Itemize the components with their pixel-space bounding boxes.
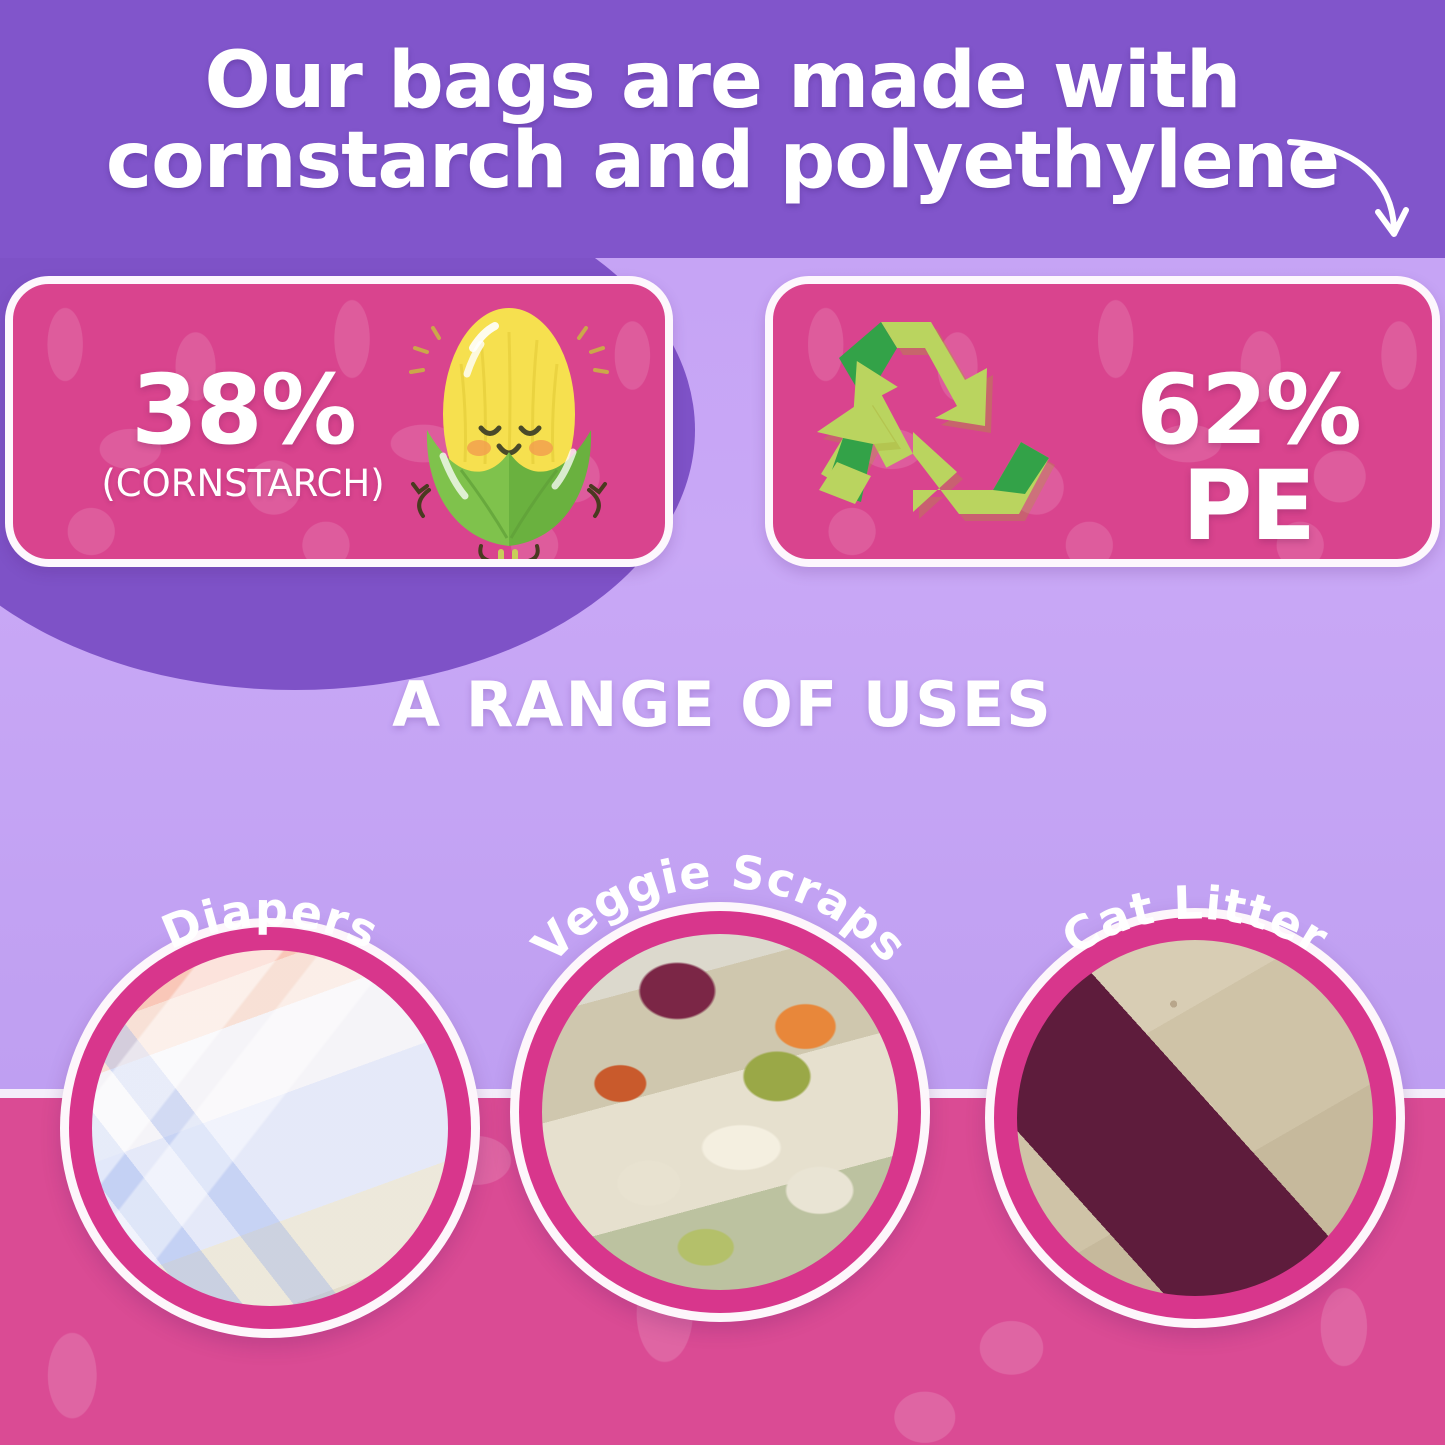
stat-value-cornstarch: 38% — [73, 362, 413, 458]
diapers-photo — [92, 950, 448, 1306]
stat-card-polyethylene: 62% PE (POLYETHYLENE) — [765, 276, 1440, 567]
recycle-icon — [803, 306, 1068, 554]
meditating-corn-icon — [383, 294, 633, 566]
stat-text-polyethylene: 62% PE (POLYETHYLENE) — [1058, 362, 1438, 567]
stat-value-polyethylene: 62% PE — [1058, 362, 1438, 554]
stat-card-cornstarch: 38% (CORNSTARCH) — [5, 276, 673, 567]
stat-sublabel-polyethylene: (POLYETHYLENE) — [1058, 558, 1438, 567]
page-title-line1: Our bags are made with — [205, 36, 1241, 126]
use-item-diapers: Diapers — [60, 918, 480, 1338]
stat-sublabel-cornstarch: (CORNSTARCH) — [73, 462, 413, 505]
use-item-cat-litter: Cat Litter — [985, 908, 1405, 1328]
section-title-uses: A RANGE OF USES — [0, 668, 1445, 741]
page-title: Our bags are made with cornstarch and po… — [0, 42, 1445, 201]
cat-litter-photo — [1017, 940, 1373, 1296]
stat-text-cornstarch: 38% (CORNSTARCH) — [73, 362, 413, 505]
veggie-scraps-photo — [542, 934, 898, 1290]
use-item-veggie-scraps: Veggie Scraps — [510, 902, 930, 1322]
infographic-canvas: Our bags are made with cornstarch and po… — [0, 0, 1445, 1445]
page-title-line2: cornstarch and polyethylene — [0, 122, 1445, 202]
curved-down-arrow-icon — [1280, 130, 1420, 260]
